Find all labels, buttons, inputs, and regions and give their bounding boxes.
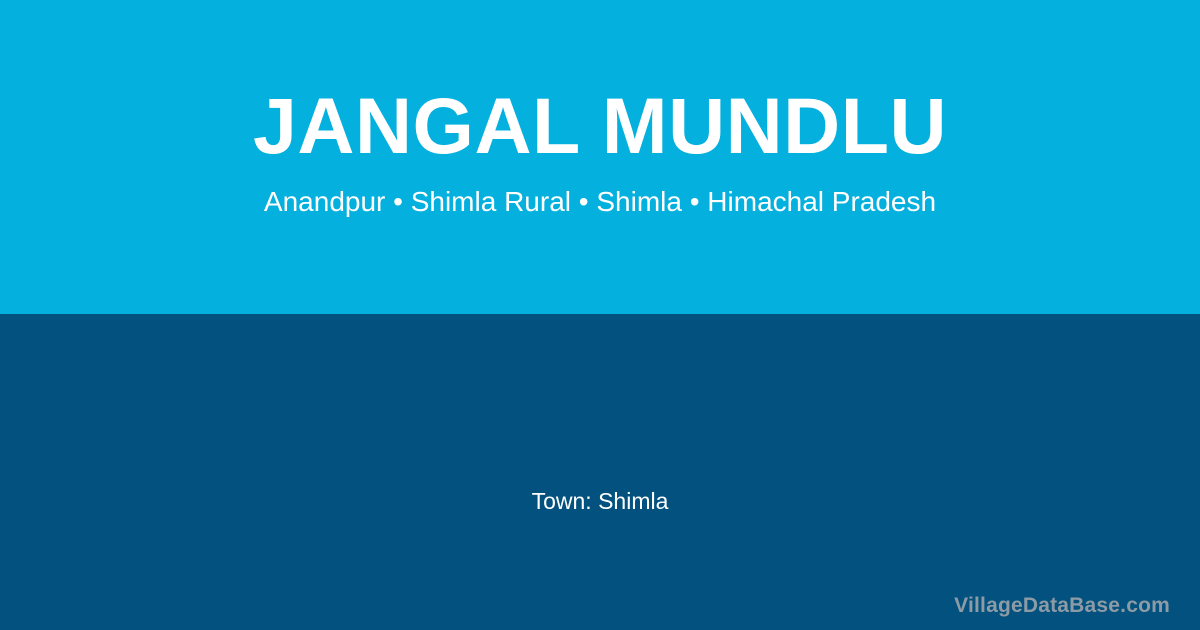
village-info-card: JANGAL MUNDLU Anandpur • Shimla Rural • … bbox=[0, 0, 1200, 630]
details-panel: Town: Shimla VillageDataBase.com bbox=[0, 314, 1200, 630]
breadcrumb: Anandpur • Shimla Rural • Shimla • Himac… bbox=[0, 185, 1200, 219]
site-watermark: VillageDataBase.com bbox=[954, 593, 1170, 618]
page-title: JANGAL MUNDLU bbox=[0, 86, 1200, 165]
header-banner: JANGAL MUNDLU Anandpur • Shimla Rural • … bbox=[0, 0, 1200, 314]
town-label: Town: Shimla bbox=[0, 488, 1200, 516]
